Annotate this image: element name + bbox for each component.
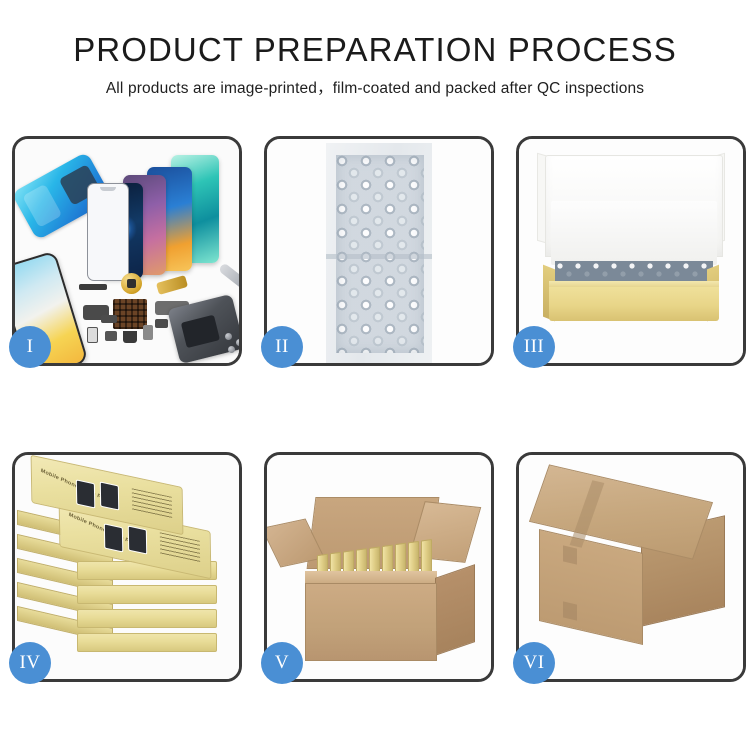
screen-protector [87,183,129,281]
step-badge-1: I [9,326,51,368]
carton-front-panel [305,583,437,661]
page-title: PRODUCT PREPARATION PROCESS [0,30,750,70]
step-badge-5: V [261,642,303,684]
box-spec-lines-1 [132,488,172,519]
step-badge-2: II [261,326,303,368]
box-stack: Mobile Phone Spare Parts Mobile Phone Sp… [15,463,239,677]
step-image-open-mailer-box [519,139,743,363]
chip-array [113,299,147,329]
sealed-carton-front [539,529,643,645]
earpiece-part [79,284,107,290]
carton-side-panel [435,564,475,656]
step-image-sealed-carton [519,455,743,679]
gold-flex-cable [156,275,188,295]
phone-fan [75,153,239,278]
carton-tab-lower [563,601,577,620]
page-subtitle: All products are image-printed，film-coat… [0,79,750,99]
step-badge-3: III [513,326,555,368]
step-badge-6: VI [513,642,555,684]
stack-box-front-3 [77,585,217,604]
small-part-6 [155,319,168,328]
small-part-3 [123,331,137,343]
box-screen-image-1b [100,481,119,510]
small-part-4 [143,325,153,340]
step-panel-1: I [12,136,242,366]
carton-tab-upper [563,545,577,564]
stack-box-front-4 [77,609,217,628]
small-part-5 [101,315,117,323]
product-preparation-infographic: PRODUCT PREPARATION PROCESS All products… [0,0,750,750]
step-panel-6: VI [516,452,746,682]
step-image-phones-and-parts [15,139,239,363]
steps-grid: I II II [12,136,746,682]
stack-box-front-5 [77,633,217,652]
step-panel-3: III [516,136,746,366]
screws-group [225,333,239,355]
pouch-seam [326,254,432,259]
small-part-1 [87,327,98,343]
step-image-bubble-wrap [267,139,491,363]
step-badge-4: IV [9,642,51,684]
small-part-2 [105,331,117,341]
bubble-wrap-pouch [326,143,432,363]
box-screen-image-2b [128,525,147,554]
speaker-coil-part [121,273,142,294]
box-screen-image-1a [76,479,95,508]
step-image-stacked-boxes: Mobile Phone Spare Parts Mobile Phone Sp… [15,455,239,679]
step-panel-2: II [264,136,494,366]
step-panel-4: Mobile Phone Spare Parts Mobile Phone Sp… [12,452,242,682]
step-panel-5: V [264,452,494,682]
box-screen-image-2a [104,523,123,552]
foam-padding [551,201,717,265]
mailer-front-panel [549,287,719,321]
step-image-open-carton [267,455,491,679]
header: PRODUCT PREPARATION PROCESS All products… [0,30,750,99]
box-spec-lines-2 [160,532,200,563]
spare-parts-cluster [77,271,239,363]
